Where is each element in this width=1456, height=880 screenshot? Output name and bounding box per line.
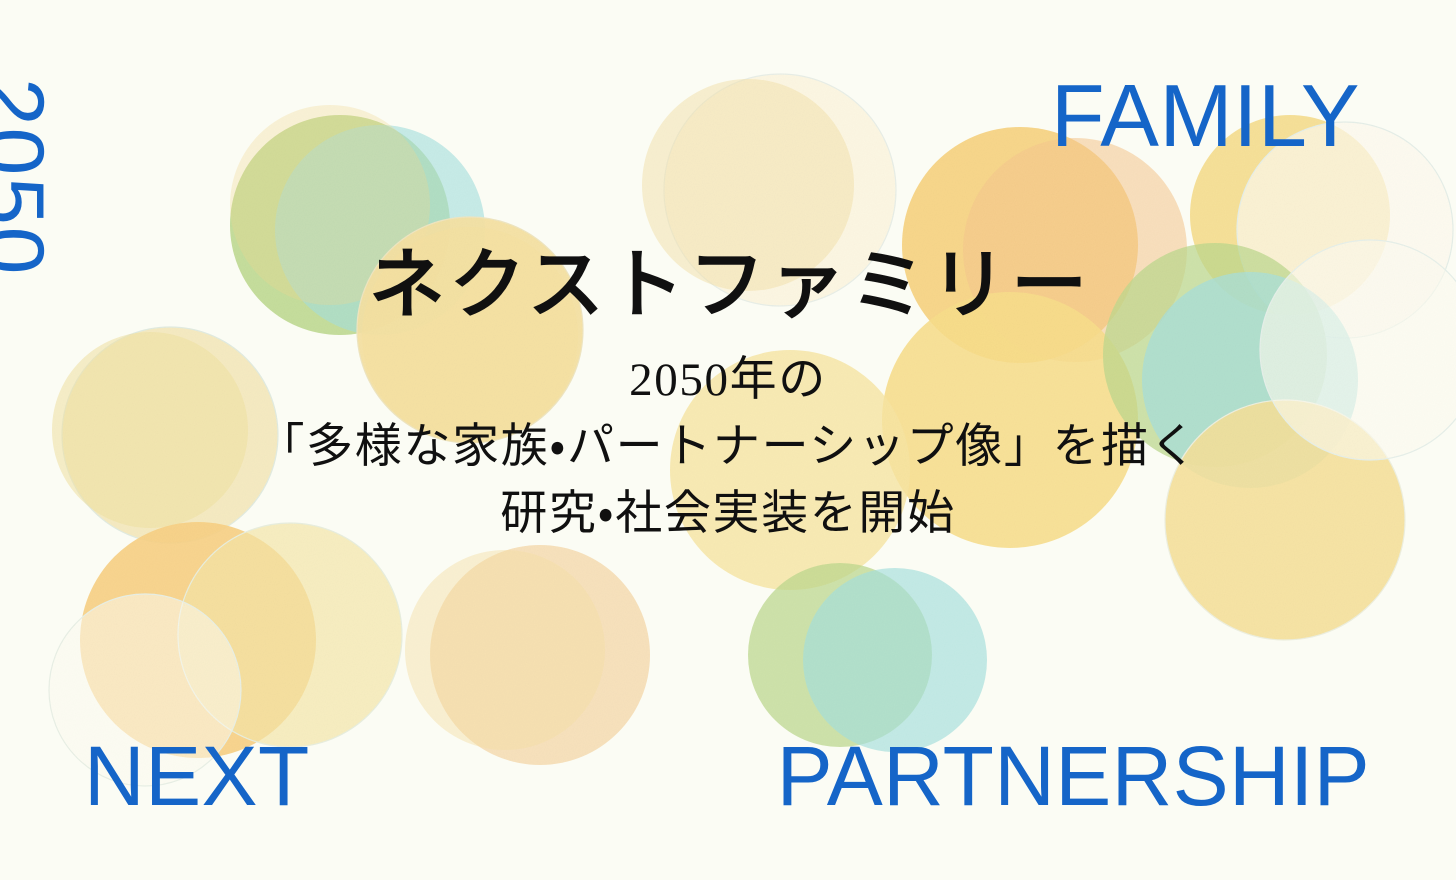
decor-circle-cyan-bottom-mid	[803, 568, 987, 752]
decor-circle-orange-bottom-left	[80, 522, 316, 758]
keyword-family: FAMILY	[1051, 72, 1360, 160]
decor-circle-peach-bottom-center	[430, 545, 650, 765]
subtitle-line-2: 「多様な家族・パートナーシップ像」を描く	[0, 414, 1456, 481]
poster-canvas: 2050 FAMILY NEXT PARTNERSHIP ネクストファミリー 2…	[0, 0, 1456, 880]
decor-circle-pale-bottom-left	[178, 523, 402, 747]
subtitle-line-1: 2050年の	[0, 347, 1456, 414]
subtitle-lines: 2050年の 「多様な家族・パートナーシップ像」を描く 研究・社会実装を開始	[0, 347, 1456, 547]
keyword-partnership: PARTNERSHIP	[777, 734, 1370, 818]
decor-circle-gold-bottom-center	[405, 550, 605, 750]
headline-block: ネクストファミリー 2050年の 「多様な家族・パートナーシップ像」を描く 研究…	[0, 244, 1456, 547]
main-title: ネクストファミリー	[0, 244, 1456, 329]
decor-circle-green-bottom-mid	[748, 563, 932, 747]
subtitle-line-3: 研究・社会実装を開始	[0, 481, 1456, 548]
keyword-next: NEXT	[84, 734, 310, 818]
